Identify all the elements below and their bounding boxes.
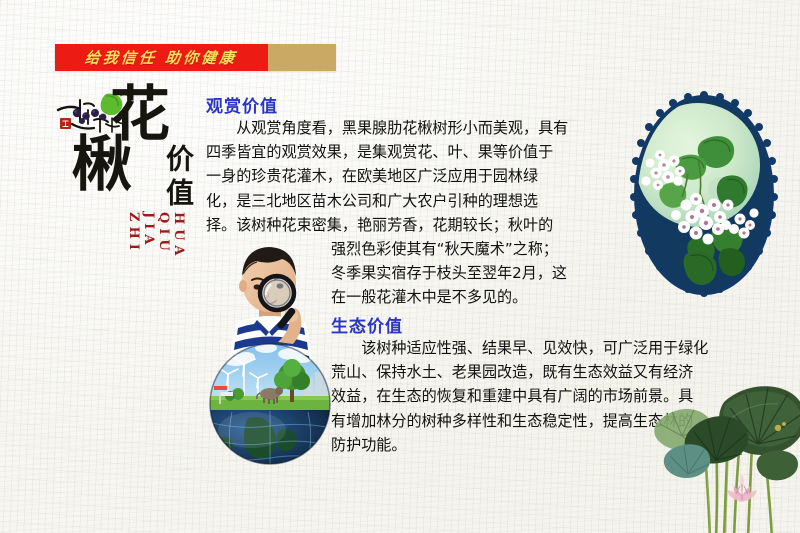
- slogan-text: 给我信任 助你健康: [84, 47, 238, 68]
- title-block: 花 楸 价值 HUA QIU JIA ZHI: [52, 86, 192, 286]
- body-line: 该树种适应性强、结果早、见效快，可广泛用于绿化: [331, 336, 765, 360]
- slogan-banner-gold-part: [268, 44, 336, 71]
- eco-earth-photo: [208, 338, 332, 468]
- section-heading-ornamental: 观赏价值: [206, 92, 278, 117]
- lotus-leaves-illustration: [646, 368, 800, 533]
- aronia-flower-photo: [628, 93, 780, 298]
- body-line: 一身的珍贵花灌木，在欧美地区广泛应用于园林绿: [206, 164, 618, 188]
- slogan-banner: 给我信任 助你健康: [55, 44, 336, 71]
- body-line: 强烈色彩使其有“秋天魔术”之称；: [331, 237, 618, 261]
- title-char-qiu: 楸: [72, 138, 132, 193]
- body-line: 冬季果实宿存于枝头至翌年2月，这: [331, 261, 618, 285]
- title-pinyin: HUA QIU JIA ZHI: [126, 212, 186, 286]
- section-heading-ecological: 生态价值: [331, 312, 403, 337]
- body-line: 化，是三北地区苗木公司和广大农户引种的理想选: [206, 189, 618, 213]
- body-line: 从观赏角度看，黑果腺肋花楸树形小而美观，具有: [206, 116, 618, 140]
- poster-canvas: 给我信任 助你健康: [0, 0, 800, 533]
- body-line: 四季皆宜的观赏效果，是集观赏花、叶、果等价值于: [206, 140, 618, 164]
- slogan-banner-red-part: 给我信任 助你健康: [55, 44, 268, 71]
- body-line: 在一般花灌木中是不多见的。: [331, 285, 618, 309]
- body-line: 择。该树种花束密集，艳丽芳香，花期较长；秋叶的: [206, 213, 618, 237]
- title-sub-label: 价值: [164, 144, 192, 212]
